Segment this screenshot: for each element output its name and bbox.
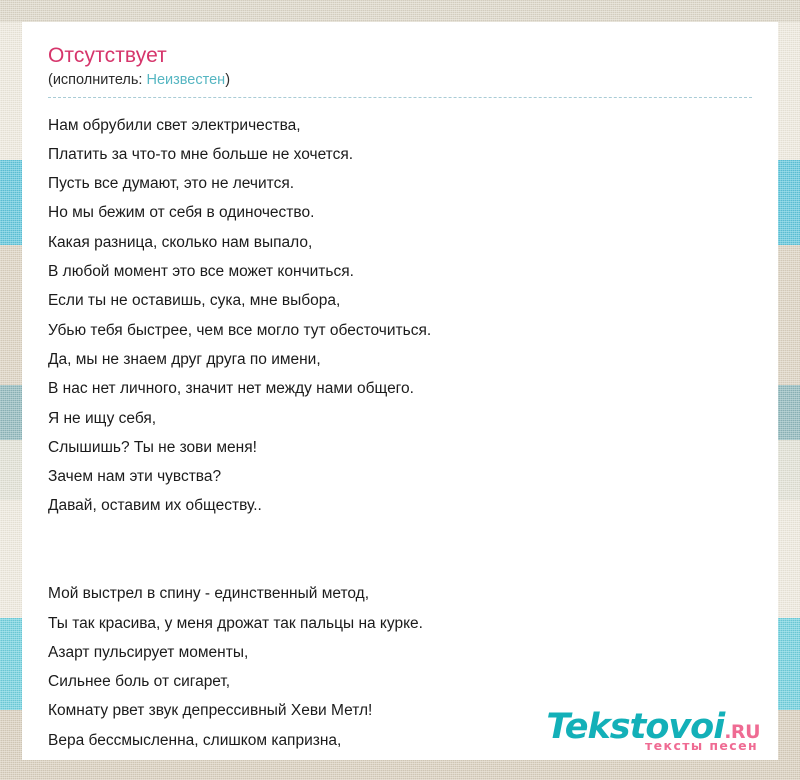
lyric-line: Убью тебя быстрее, чем все могло тут обе… — [48, 316, 752, 345]
page-title: Отсутствует — [48, 44, 752, 68]
artist-suffix: ) — [225, 72, 230, 88]
lyric-line: Зачем нам эти чувства? — [48, 462, 752, 491]
lyric-line: В любой момент это все может кончиться. — [48, 257, 752, 286]
artist-label: (исполнитель: — [48, 72, 142, 88]
header-divider — [48, 97, 752, 98]
artist-line: (исполнитель: Неизвестен) — [48, 72, 752, 89]
lyric-line: Слышишь? Ты не зови меня! — [48, 433, 752, 462]
lyric-line-blank — [48, 550, 752, 579]
lyric-line: Мой выстрел в спину - единственный метод… — [48, 579, 752, 608]
lyric-line: Больная тварь, променяна на шумных в пис… — [48, 755, 752, 760]
lyric-line: Да, мы не знаем друг друга по имени, — [48, 345, 752, 374]
lyric-line: Нам обрубили свет электричества, — [48, 111, 752, 140]
lyric-line: Пусть все думают, это не лечится. — [48, 169, 752, 198]
lyric-line: Платить за что-то мне больше не хочется. — [48, 140, 752, 169]
lyric-line: Какая разница, сколько нам выпало, — [48, 228, 752, 257]
lyric-line: Сильнее боль от сигарет, — [48, 667, 752, 696]
lyric-line-blank — [48, 521, 752, 550]
site-logo[interactable]: Tekstovoi.RU тексты песен — [546, 710, 760, 753]
artist-link[interactable]: Неизвестен — [146, 72, 225, 88]
page-root: Отсутствует (исполнитель: Неизвестен) На… — [0, 0, 800, 780]
lyric-line: В нас нет личного, значит нет между нами… — [48, 374, 752, 403]
lyrics-body: Нам обрубили свет электричества,Платить … — [48, 111, 752, 760]
band-cream-top — [0, 0, 800, 22]
lyric-line: Но мы бежим от себя в одиночество. — [48, 198, 752, 227]
lyric-line: Я не ищу себя, — [48, 404, 752, 433]
lyrics-card: Отсутствует (исполнитель: Неизвестен) На… — [22, 22, 778, 760]
lyric-line: Давай, оставим их обществу.. — [48, 491, 752, 520]
lyric-line: Если ты не оставишь, сука, мне выбора, — [48, 286, 752, 315]
lyric-line: Азарт пульсирует моменты, — [48, 638, 752, 667]
lyric-line: Ты так красива, у меня дрожат так пальцы… — [48, 609, 752, 638]
